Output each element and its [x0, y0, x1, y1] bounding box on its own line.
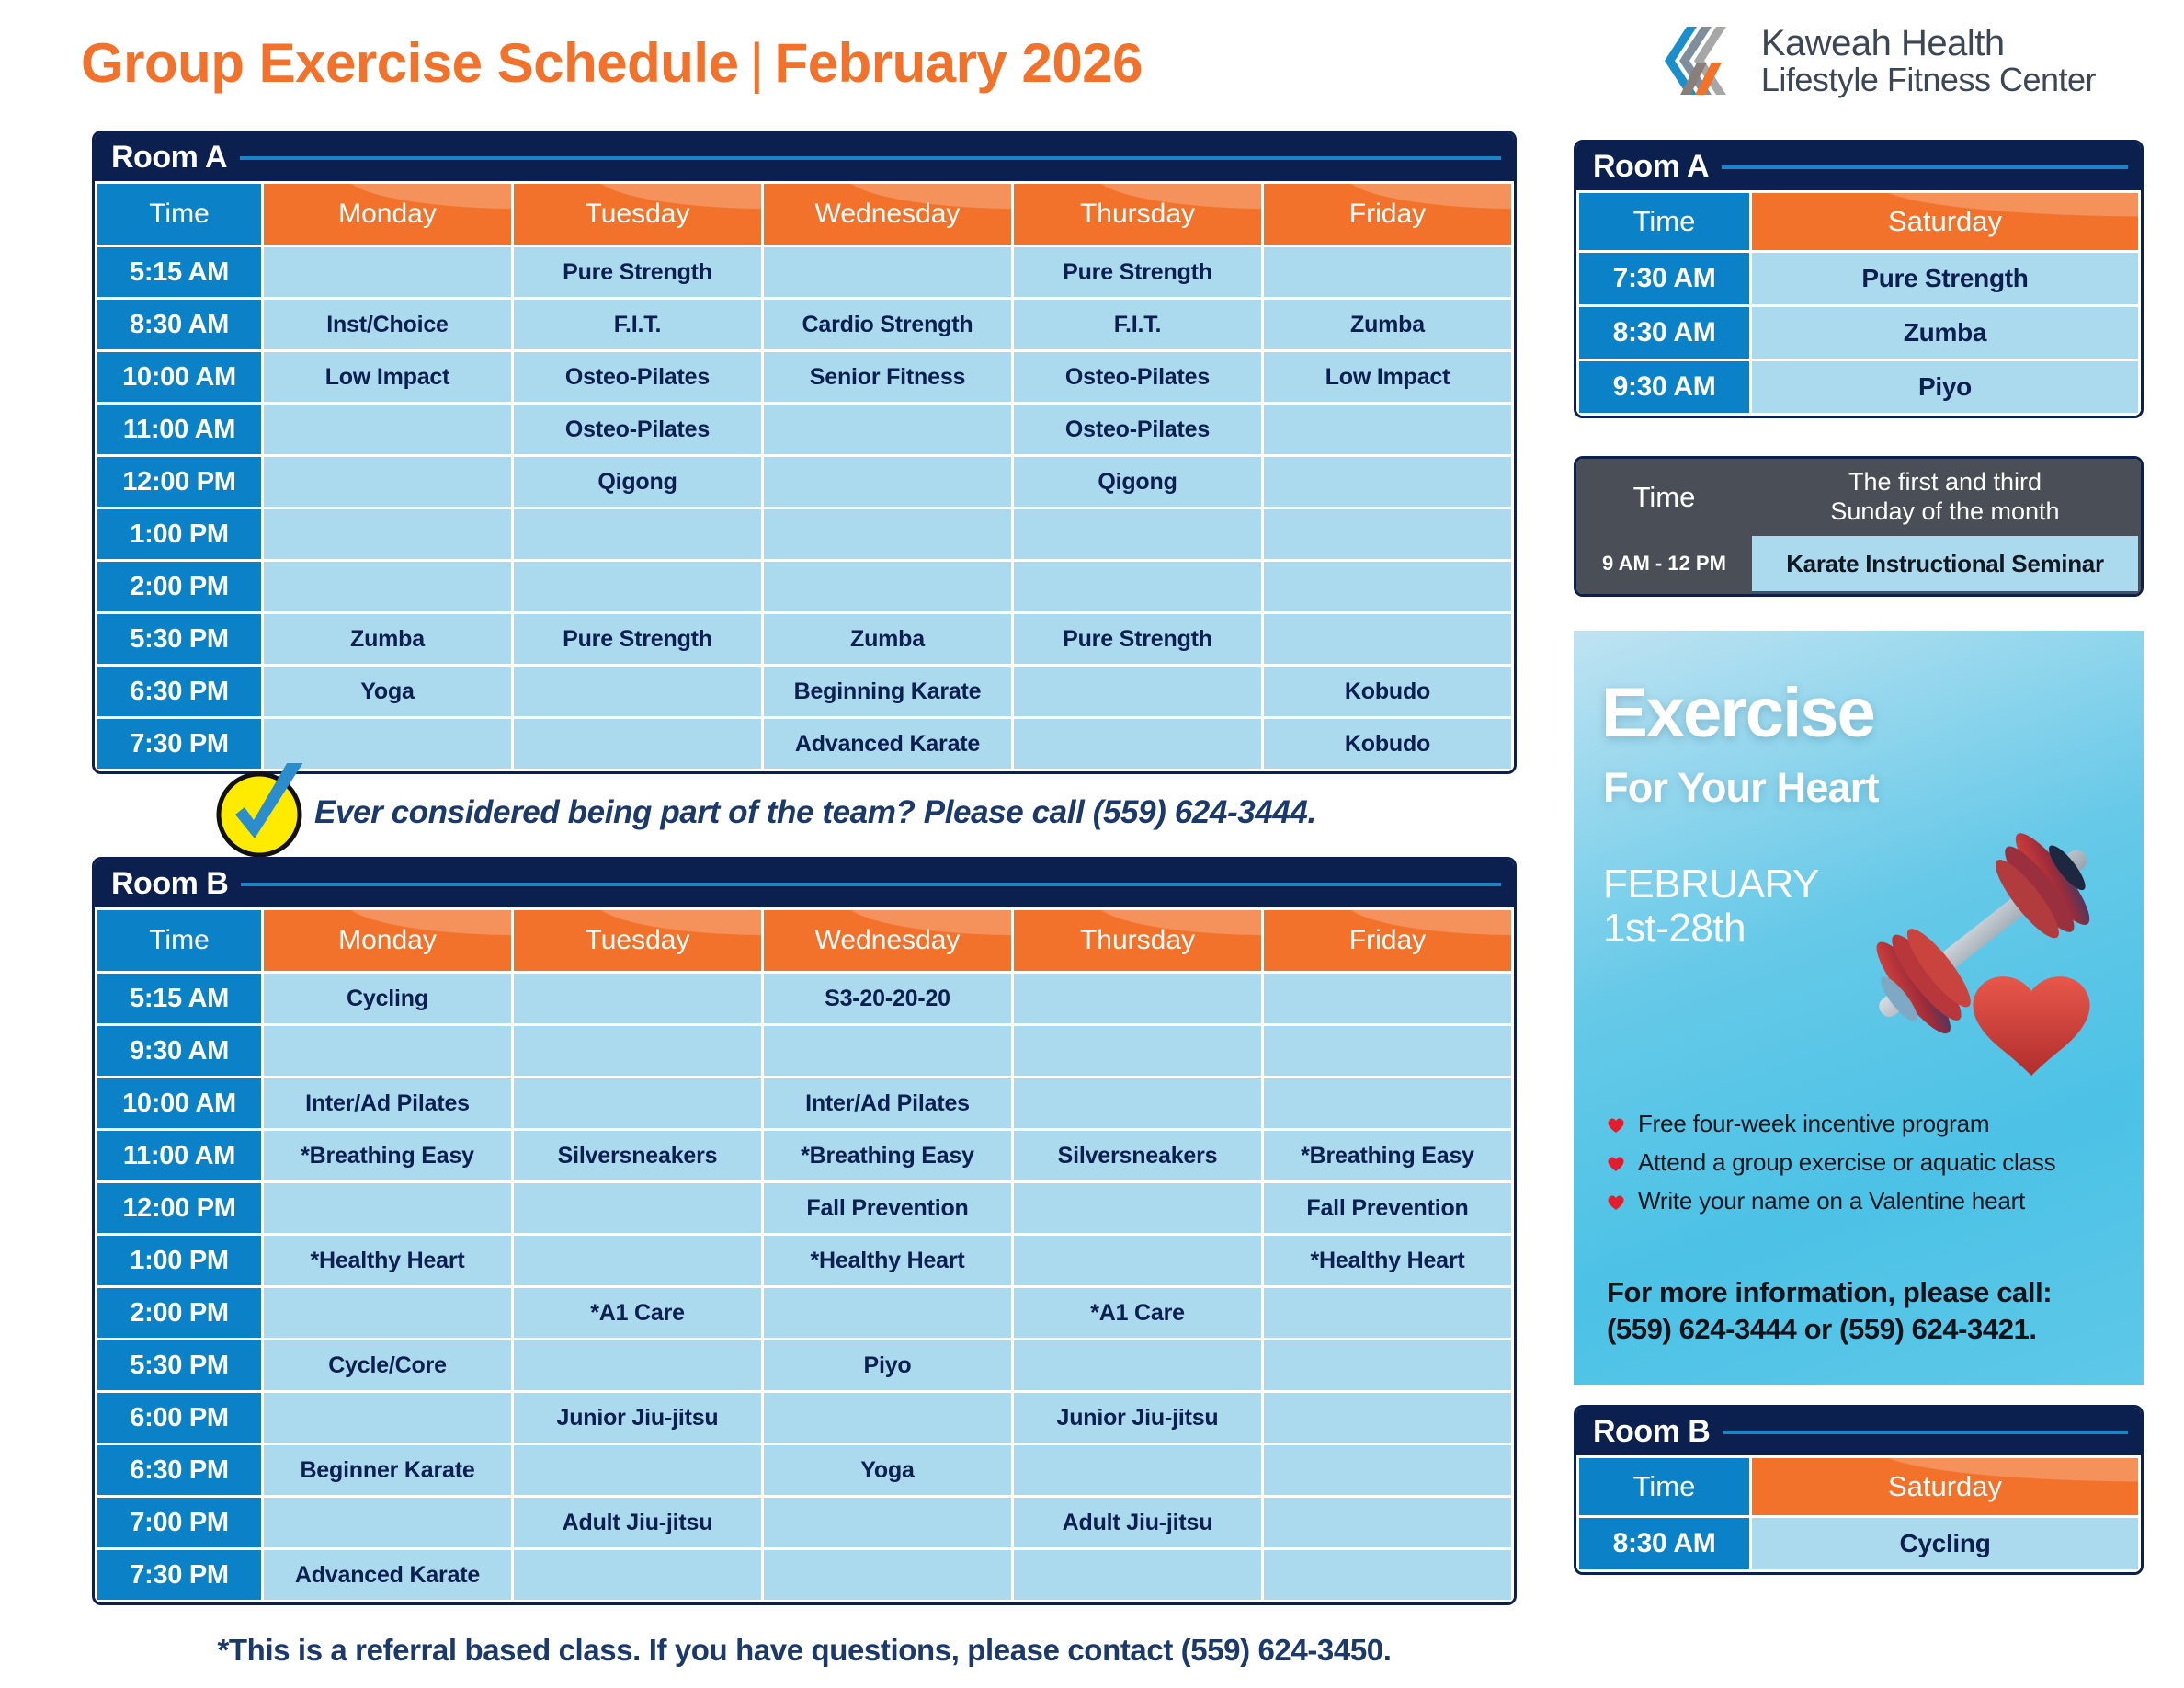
- room_a-day-label: Wednesday: [815, 199, 961, 229]
- class-cell: Zumba: [1264, 300, 1511, 349]
- logo-title-line2: Lifestyle Fitness Center: [1761, 63, 2096, 97]
- table-row: 6:00 PMJunior Jiu-jitsuJunior Jiu-jitsu: [97, 1393, 1511, 1443]
- empty-cell: [1264, 562, 1511, 611]
- class-cell: Kobudo: [1264, 667, 1511, 716]
- room_b-day-label: Friday: [1349, 925, 1426, 955]
- empty-cell: [514, 1026, 761, 1076]
- sunday-seminar-time: 9 AM - 12 PM: [1579, 536, 1749, 591]
- empty-cell: [1014, 1236, 1261, 1285]
- room_a-day-header-thursday: Thursday: [1014, 184, 1261, 245]
- class-cell: S3-20-20-20: [764, 974, 1011, 1023]
- table-row: 7:30 PMAdvanced Karate: [97, 1550, 1511, 1600]
- empty-cell: [1264, 1498, 1511, 1547]
- table-row: 5:30 PMCycle/CorePiyo: [97, 1340, 1511, 1390]
- class-cell: Adult Jiu-jitsu: [514, 1498, 761, 1547]
- empty-cell: [514, 719, 761, 769]
- promo-contact-line2: (559) 624-3444 or (559) 624-3421.: [1607, 1313, 2037, 1345]
- class-cell: *A1 Care: [514, 1288, 761, 1338]
- class-cell: Inter/Ad Pilates: [264, 1078, 511, 1128]
- side-room-a-block: Room A Time Saturday 7:30 AMPure Strengt…: [1574, 140, 2144, 418]
- time-slot-label: 11:00 AM: [97, 1131, 261, 1180]
- empty-cell: [264, 562, 511, 611]
- time-slot-label: 10:00 AM: [97, 352, 261, 402]
- time-slot-label: 6:30 PM: [97, 1445, 261, 1495]
- room_a-day-label: Friday: [1349, 199, 1426, 229]
- room_b-day-header-monday: Monday: [264, 910, 511, 971]
- promo-title: Exercise: [1601, 679, 1874, 748]
- side-room-a-time-header: Time: [1579, 193, 1749, 250]
- sunday-seminar-class: Karate Instructional Seminar: [1752, 536, 2138, 591]
- table-row: 5:30 PMZumbaPure StrengthZumbaPure Stren…: [97, 614, 1511, 664]
- table-row: 12:00 PMQigongQigong: [97, 457, 1511, 507]
- class-cell: Beginner Karate: [264, 1445, 511, 1495]
- class-cell: *A1 Care: [1014, 1288, 1261, 1338]
- page-title: Group Exercise Schedule|February 2026: [81, 31, 1143, 95]
- room_b-day-header-thursday: Thursday: [1014, 910, 1261, 971]
- time-slot-label: 10:00 AM: [97, 1078, 261, 1128]
- side-room-b-time-header: Time: [1579, 1458, 1749, 1515]
- class-cell: Junior Jiu-jitsu: [1014, 1393, 1261, 1443]
- side-room-a-table: Time Saturday 7:30 AMPure Strength8:30 A…: [1576, 190, 2141, 416]
- time-slot-label: 11:00 AM: [97, 405, 261, 454]
- class-cell: Inst/Choice: [264, 300, 511, 349]
- empty-cell: [1014, 667, 1261, 716]
- class-cell: Cycling: [1752, 1518, 2138, 1569]
- table-row: 1:00 PM: [97, 509, 1511, 559]
- sunday-day-header: The first and third Sunday of the month: [1752, 462, 2138, 533]
- table-row: 5:15 AMPure StrengthPure Strength: [97, 247, 1511, 297]
- heart-bullet-icon: [1607, 1117, 1625, 1138]
- room-a-title-bar: Room A: [95, 133, 1514, 181]
- time-slot-label: 1:00 PM: [97, 1236, 261, 1285]
- promo-bullet-text: Write your name on a Valentine heart: [1638, 1188, 2025, 1215]
- empty-cell: [1264, 1078, 1511, 1128]
- class-cell: Osteo-Pilates: [514, 405, 761, 454]
- time-slot-label: 1:00 PM: [97, 509, 261, 559]
- empty-cell: [1014, 974, 1261, 1023]
- sunday-header-row: Time The first and third Sunday of the m…: [1579, 462, 2138, 533]
- time-slot-label: 8:30 AM: [97, 300, 261, 349]
- empty-cell: [1014, 719, 1261, 769]
- time-slot-label: 8:30 AM: [1579, 1518, 1749, 1569]
- room-b-schedule-block: Room B TimeMondayTuesdayWednesdayThursda…: [92, 857, 1517, 1605]
- empty-cell: [764, 1288, 1011, 1338]
- class-cell: Beginning Karate: [764, 667, 1011, 716]
- empty-cell: [1014, 562, 1261, 611]
- empty-cell: [1014, 1340, 1261, 1390]
- table-row: 8:30 AMCycling: [1579, 1518, 2138, 1569]
- time-slot-label: 5:30 PM: [97, 614, 261, 664]
- room_b-time-header: Time: [97, 910, 261, 971]
- class-cell: Advanced Karate: [764, 719, 1011, 769]
- class-cell: *Healthy Heart: [1264, 1236, 1511, 1285]
- time-slot-label: 5:15 AM: [97, 247, 261, 297]
- exercise-for-your-heart-promo: Exercise For Your Heart FEBRUARY 1st-28t…: [1574, 631, 2144, 1385]
- page-header: Group Exercise Schedule|February 2026 Ka…: [0, 0, 2184, 129]
- class-cell: Adult Jiu-jitsu: [1014, 1498, 1261, 1547]
- side-room-a-rule: [1722, 165, 2128, 169]
- room-a-body: 5:15 AMPure StrengthPure Strength8:30 AM…: [97, 247, 1511, 769]
- empty-cell: [764, 562, 1011, 611]
- class-cell: Pure Strength: [1014, 614, 1261, 664]
- table-row: 7:00 PMAdult Jiu-jitsuAdult Jiu-jitsu: [97, 1498, 1511, 1547]
- time-slot-label: 2:00 PM: [97, 562, 261, 611]
- sunday-seminar-block: Time The first and third Sunday of the m…: [1574, 456, 2144, 597]
- empty-cell: [264, 509, 511, 559]
- table-row: 5:15 AMCyclingS3-20-20-20: [97, 974, 1511, 1023]
- time-slot-label: 7:30 PM: [97, 1550, 261, 1600]
- class-cell: *Healthy Heart: [264, 1236, 511, 1285]
- heart-bullet-icon: [1607, 1156, 1625, 1177]
- class-cell: Advanced Karate: [264, 1550, 511, 1600]
- list-item: Attend a group exercise or aquatic class: [1607, 1149, 2121, 1177]
- room_b-day-header-tuesday: Tuesday: [514, 910, 761, 971]
- room-a-table: TimeMondayTuesdayWednesdayThursdayFriday…: [95, 181, 1514, 771]
- class-cell: Qigong: [514, 457, 761, 507]
- empty-cell: [264, 405, 511, 454]
- class-cell: Yoga: [264, 667, 511, 716]
- time-slot-label: 9:30 AM: [1579, 361, 1749, 413]
- side-room-a-saturday-header: Saturday: [1752, 193, 2138, 250]
- class-cell: *Breathing Easy: [764, 1131, 1011, 1180]
- class-cell: *Healthy Heart: [764, 1236, 1011, 1285]
- empty-cell: [514, 1078, 761, 1128]
- empty-cell: [1014, 1026, 1261, 1076]
- table-row: 10:00 AMLow ImpactOsteo-PilatesSenior Fi…: [97, 352, 1511, 402]
- empty-cell: [514, 974, 761, 1023]
- empty-cell: [1014, 1183, 1261, 1233]
- time-slot-label: 9:30 AM: [97, 1026, 261, 1076]
- side-room-a-label: Room A: [1593, 149, 1709, 185]
- room_a-day-label: Tuesday: [586, 199, 690, 229]
- empty-cell: [764, 247, 1011, 297]
- empty-cell: [764, 1026, 1011, 1076]
- empty-cell: [1264, 1288, 1511, 1338]
- empty-cell: [1264, 1445, 1511, 1495]
- table-row: 8:30 AMZumba: [1579, 307, 2138, 359]
- room_b-day-label: Monday: [338, 925, 437, 955]
- check-circle-icon: [213, 763, 309, 859]
- class-cell: *Breathing Easy: [264, 1131, 511, 1180]
- table-row: 7:30 AMPure Strength: [1579, 253, 2138, 304]
- sunday-seminar-row: 9 AM - 12 PM Karate Instructional Semina…: [1579, 536, 2138, 591]
- sunday-day-header-line1: The first and third: [1848, 468, 2042, 496]
- room_a-day-header-monday: Monday: [264, 184, 511, 245]
- side-room-b-table: Time Saturday 8:30 AMCycling: [1576, 1455, 2141, 1572]
- class-cell: Kobudo: [1264, 719, 1511, 769]
- room-a-schedule-block: Room A TimeMondayTuesdayWednesdayThursda…: [92, 131, 1517, 774]
- side-room-b-block: Room B Time Saturday 8:30 AMCycling: [1574, 1405, 2144, 1575]
- room_a-day-header-wednesday: Wednesday: [764, 184, 1011, 245]
- room_a-time-header: Time: [97, 184, 261, 245]
- class-cell: Low Impact: [264, 352, 511, 402]
- time-slot-label: 2:00 PM: [97, 1288, 261, 1338]
- room_b-day-label: Tuesday: [586, 925, 690, 955]
- room_a-day-label: Monday: [338, 199, 437, 229]
- time-slot-label: 8:30 AM: [1579, 307, 1749, 359]
- class-cell: Zumba: [1752, 307, 2138, 359]
- empty-cell: [514, 1236, 761, 1285]
- table-row: 2:00 PM*A1 Care*A1 Care: [97, 1288, 1511, 1338]
- empty-cell: [1264, 247, 1511, 297]
- class-cell: Zumba: [764, 614, 1011, 664]
- empty-cell: [514, 1340, 761, 1390]
- empty-cell: [514, 562, 761, 611]
- empty-cell: [1264, 614, 1511, 664]
- sunday-time-header: Time: [1579, 462, 1749, 533]
- sunday-day-header-line2: Sunday of the month: [1830, 497, 2059, 525]
- room-b-rule: [241, 883, 1501, 886]
- table-row: 9:30 AM: [97, 1026, 1511, 1076]
- list-item: Write your name on a Valentine heart: [1607, 1188, 2121, 1215]
- empty-cell: [264, 719, 511, 769]
- empty-cell: [264, 1183, 511, 1233]
- side-room-b-label: Room B: [1593, 1414, 1710, 1450]
- promo-bullet-text: Attend a group exercise or aquatic class: [1638, 1149, 2055, 1177]
- kaweah-health-logo: Kaweah Health Lifestyle Fitness Center: [1662, 24, 2096, 97]
- table-row: 2:00 PM: [97, 562, 1511, 611]
- room_a-day-label: Thursday: [1080, 199, 1195, 229]
- promo-dates: FEBRUARY 1st-28th: [1603, 862, 1819, 950]
- class-cell: Cardio Strength: [764, 300, 1011, 349]
- empty-cell: [1264, 1393, 1511, 1443]
- class-cell: Inter/Ad Pilates: [764, 1078, 1011, 1128]
- empty-cell: [1264, 405, 1511, 454]
- class-cell: Pure Strength: [1014, 247, 1261, 297]
- room-a-header-row: TimeMondayTuesdayWednesdayThursdayFriday: [97, 184, 1511, 245]
- side-room-a-body: 7:30 AMPure Strength8:30 AMZumba9:30 AMP…: [1579, 253, 2138, 413]
- class-cell: *Breathing Easy: [1264, 1131, 1511, 1180]
- class-cell: Osteo-Pilates: [514, 352, 761, 402]
- empty-cell: [1264, 1550, 1511, 1600]
- room_b-day-header-wednesday: Wednesday: [764, 910, 1011, 971]
- page-title-main: Group Exercise Schedule: [81, 32, 738, 94]
- empty-cell: [264, 247, 511, 297]
- class-cell: Silversneakers: [514, 1131, 761, 1180]
- empty-cell: [1264, 457, 1511, 507]
- kaweah-chevron-icon: [1662, 25, 1746, 97]
- promo-contact-info: For more information, please call: (559)…: [1607, 1274, 2121, 1347]
- table-row: 8:30 AMInst/ChoiceF.I.T.Cardio StrengthF…: [97, 300, 1511, 349]
- room_a-day-header-tuesday: Tuesday: [514, 184, 761, 245]
- referral-footer-note: *This is a referral based class. If you …: [92, 1633, 1517, 1668]
- class-cell: Low Impact: [1264, 352, 1511, 402]
- room-a-rule: [240, 156, 1501, 160]
- class-cell: Osteo-Pilates: [1014, 352, 1261, 402]
- class-cell: Fall Prevention: [764, 1183, 1011, 1233]
- empty-cell: [514, 509, 761, 559]
- time-slot-label: 12:00 PM: [97, 1183, 261, 1233]
- class-cell: Silversneakers: [1014, 1131, 1261, 1180]
- heart-barbell-icon: [1818, 759, 2144, 1090]
- time-slot-label: 7:30 PM: [97, 719, 261, 769]
- class-cell: Piyo: [764, 1340, 1011, 1390]
- class-cell: Pure Strength: [1752, 253, 2138, 304]
- time-slot-label: 6:00 PM: [97, 1393, 261, 1443]
- class-cell: Osteo-Pilates: [1014, 405, 1261, 454]
- class-cell: Piyo: [1752, 361, 2138, 413]
- table-row: 12:00 PMFall PreventionFall Prevention: [97, 1183, 1511, 1233]
- class-cell: Cycling: [264, 974, 511, 1023]
- table-row: 1:00 PM*Healthy Heart*Healthy Heart*Heal…: [97, 1236, 1511, 1285]
- sunday-seminar-table: Time The first and third Sunday of the m…: [1576, 459, 2141, 594]
- empty-cell: [1264, 974, 1511, 1023]
- room-b-title-bar: Room B: [95, 860, 1514, 907]
- empty-cell: [1014, 509, 1261, 559]
- room_b-day-label: Wednesday: [815, 925, 961, 955]
- logo-title-line1: Kaweah Health: [1761, 24, 2096, 63]
- class-cell: Yoga: [764, 1445, 1011, 1495]
- side-room-b-title-bar: Room B: [1576, 1408, 2141, 1455]
- promo-bullet-list: Free four-week incentive programAttend a…: [1607, 1111, 2121, 1226]
- promo-bullet-text: Free four-week incentive program: [1638, 1111, 1989, 1138]
- empty-cell: [514, 1183, 761, 1233]
- empty-cell: [264, 1288, 511, 1338]
- class-cell: Cycle/Core: [264, 1340, 511, 1390]
- room-a-label: Room A: [111, 140, 227, 176]
- empty-cell: [764, 1498, 1011, 1547]
- empty-cell: [1014, 1445, 1261, 1495]
- table-row: 7:30 PMAdvanced KarateKobudo: [97, 719, 1511, 769]
- empty-cell: [1264, 509, 1511, 559]
- class-cell: Senior Fitness: [764, 352, 1011, 402]
- empty-cell: [514, 1550, 761, 1600]
- room_b-day-header-friday: Friday: [1264, 910, 1511, 971]
- room-b-header-row: TimeMondayTuesdayWednesdayThursdayFriday: [97, 910, 1511, 971]
- empty-cell: [1014, 1550, 1261, 1600]
- empty-cell: [764, 1393, 1011, 1443]
- side-room-b-body: 8:30 AMCycling: [1579, 1518, 2138, 1569]
- table-row: 11:00 AM*Breathing EasySilversneakers*Br…: [97, 1131, 1511, 1180]
- team-callout: Ever considered being part of the team? …: [213, 770, 1519, 855]
- empty-cell: [764, 1550, 1011, 1600]
- side-room-b-header-row: Time Saturday: [1579, 1458, 2138, 1515]
- list-item: Free four-week incentive program: [1607, 1111, 2121, 1138]
- empty-cell: [264, 1026, 511, 1076]
- side-room-b-saturday-header: Saturday: [1752, 1458, 2138, 1515]
- table-row: 10:00 AMInter/Ad PilatesInter/Ad Pilates: [97, 1078, 1511, 1128]
- promo-dates-line1: FEBRUARY: [1603, 861, 1819, 907]
- side-room-a-header-row: Time Saturday: [1579, 193, 2138, 250]
- title-divider: |: [738, 31, 774, 95]
- time-slot-label: 7:00 PM: [97, 1498, 261, 1547]
- room_b-day-label: Thursday: [1080, 925, 1195, 955]
- heart-bullet-icon: [1607, 1194, 1625, 1215]
- class-cell: Pure Strength: [514, 247, 761, 297]
- side-room-a-title-bar: Room A: [1576, 143, 2141, 190]
- empty-cell: [764, 509, 1011, 559]
- time-slot-label: 5:15 AM: [97, 974, 261, 1023]
- time-slot-label: 6:30 PM: [97, 667, 261, 716]
- time-slot-label: 12:00 PM: [97, 457, 261, 507]
- time-slot-label: 5:30 PM: [97, 1340, 261, 1390]
- table-row: 9:30 AMPiyo: [1579, 361, 2138, 413]
- empty-cell: [264, 1498, 511, 1547]
- empty-cell: [764, 405, 1011, 454]
- class-cell: Pure Strength: [514, 614, 761, 664]
- empty-cell: [264, 457, 511, 507]
- table-row: 6:30 PMBeginner KarateYoga: [97, 1445, 1511, 1495]
- class-cell: F.I.T.: [514, 300, 761, 349]
- side-room-a-saturday-label: Saturday: [1888, 205, 2002, 237]
- room-b-label: Room B: [111, 866, 228, 902]
- class-cell: Fall Prevention: [1264, 1183, 1511, 1233]
- time-slot-label: 7:30 AM: [1579, 253, 1749, 304]
- promo-contact-line1: For more information, please call:: [1607, 1276, 2052, 1308]
- side-room-b-rule: [1723, 1431, 2128, 1434]
- team-callout-text: Ever considered being part of the team? …: [314, 794, 1316, 831]
- table-row: 6:30 PMYogaBeginning KarateKobudo: [97, 667, 1511, 716]
- empty-cell: [264, 1393, 511, 1443]
- side-room-b-saturday-label: Saturday: [1888, 1470, 2002, 1502]
- empty-cell: [1014, 1078, 1261, 1128]
- room-b-body: 5:15 AMCyclingS3-20-20-209:30 AM10:00 AM…: [97, 974, 1511, 1600]
- empty-cell: [1264, 1340, 1511, 1390]
- class-cell: Qigong: [1014, 457, 1261, 507]
- class-cell: Junior Jiu-jitsu: [514, 1393, 761, 1443]
- empty-cell: [1264, 1026, 1511, 1076]
- class-cell: F.I.T.: [1014, 300, 1261, 349]
- empty-cell: [764, 457, 1011, 507]
- room_a-day-header-friday: Friday: [1264, 184, 1511, 245]
- promo-dates-line2: 1st-28th: [1603, 906, 1746, 951]
- empty-cell: [514, 667, 761, 716]
- class-cell: Zumba: [264, 614, 511, 664]
- page-title-month: February 2026: [775, 32, 1143, 94]
- empty-cell: [514, 1445, 761, 1495]
- table-row: 11:00 AMOsteo-PilatesOsteo-Pilates: [97, 405, 1511, 454]
- room-b-table: TimeMondayTuesdayWednesdayThursdayFriday…: [95, 907, 1514, 1602]
